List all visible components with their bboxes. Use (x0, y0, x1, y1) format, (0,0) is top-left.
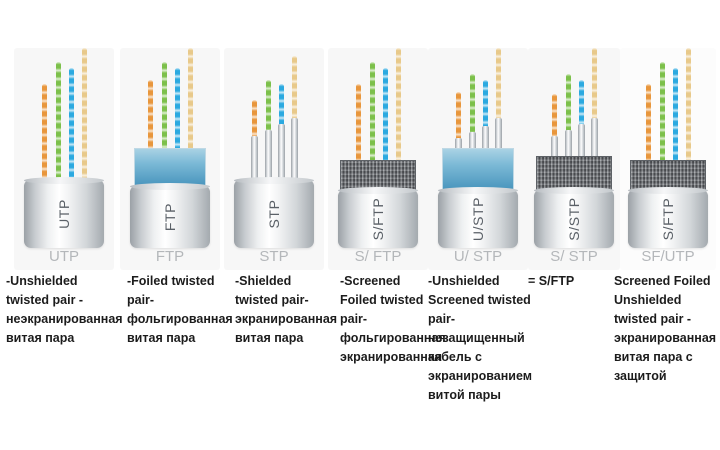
cable-jacket: S/FTP (338, 190, 418, 248)
wire-orange (42, 84, 47, 180)
pair-shield-1 (251, 136, 258, 180)
twisted-pairs (246, 48, 302, 180)
twisted-pairs (36, 48, 92, 180)
cable-jacket: FTP (130, 186, 210, 248)
column-description-s-stp: = S/FTP (528, 272, 608, 291)
wire-blue (673, 68, 678, 172)
cable-illustration-sf-utp: S/FTP (626, 48, 710, 248)
twisted-pairs (350, 48, 406, 174)
column-description-s-ftp: -Screened Foiled twisted pair-фольгирова… (340, 272, 424, 367)
cable-illustration-stp: STP (232, 48, 316, 248)
column-header-s-ftp: S/ FTP (328, 248, 428, 265)
cable-jacket: UTP (24, 180, 104, 248)
pair-shield-2 (265, 130, 272, 180)
cable-jacket: U/STP (438, 190, 518, 248)
column-ftp: FTP FTP (120, 0, 220, 450)
cable-jacket: S/FTP (628, 190, 708, 248)
column-header-stp: STP (224, 248, 324, 265)
column-header-utp: UTP (14, 248, 114, 265)
cable-illustration-ftp: FTP (128, 48, 212, 248)
cable-illustration-utp: UTP (22, 48, 106, 248)
column-description-stp: -Shielded twisted pair-экранированная ви… (235, 272, 337, 348)
pair-shield-3 (278, 124, 285, 180)
column-header-s-stp: S/ STP (528, 248, 620, 265)
jacket-label: S/FTP (370, 179, 386, 259)
cable-illustration-s-ftp: S/FTP (336, 48, 420, 248)
wire-green (370, 62, 375, 174)
jacket-label: U/STP (470, 179, 486, 259)
wire-tan (686, 48, 691, 172)
wire-tan (396, 48, 401, 174)
column-utp: UTP UTP (14, 0, 114, 450)
wire-blue (383, 68, 388, 174)
column-header-sf-utp: SF/UTP (620, 248, 716, 265)
column-s-stp: S/STP S/ STP (528, 0, 620, 450)
wire-orange (646, 84, 651, 172)
jacket-label: STP (266, 174, 282, 254)
jacket-label: S/FTP (660, 179, 676, 259)
column-description-utp: -Unshielded twisted pair - неэкранирован… (6, 272, 122, 348)
column-description-u-stp: -Unshielded Screened twisted pair-незащи… (428, 272, 532, 405)
twisted-pairs (640, 48, 696, 172)
column-stp: STP STP (224, 0, 324, 450)
cable-jacket: S/STP (534, 190, 614, 248)
wire-green (56, 62, 61, 180)
cable-jacket: STP (234, 180, 314, 248)
jacket-label: FTP (162, 177, 178, 257)
pair-shield-4 (291, 118, 298, 180)
wire-blue (69, 68, 74, 180)
cable-illustration-s-stp: S/STP (532, 48, 616, 248)
column-description-ftp: -Foiled twisted pair-фольгированная вита… (127, 272, 239, 348)
jacket-label: S/STP (566, 179, 582, 259)
cable-illustration-u-stp: U/STP (436, 48, 520, 248)
column-header-ftp: FTP (120, 248, 220, 265)
column-description-sf-utp: Screened Foiled Unshielded twisted pair … (614, 272, 718, 386)
wire-tan (82, 48, 87, 180)
jacket-label: UTP (56, 174, 72, 254)
column-header-u-stp: U/ STP (428, 248, 528, 265)
column-s-ftp: S/FTP S/ FTP (328, 0, 428, 450)
cable-shielding-diagram: UTP UTP -Unshielded twisted pair - неэкр… (0, 0, 720, 450)
wire-green (660, 62, 665, 172)
